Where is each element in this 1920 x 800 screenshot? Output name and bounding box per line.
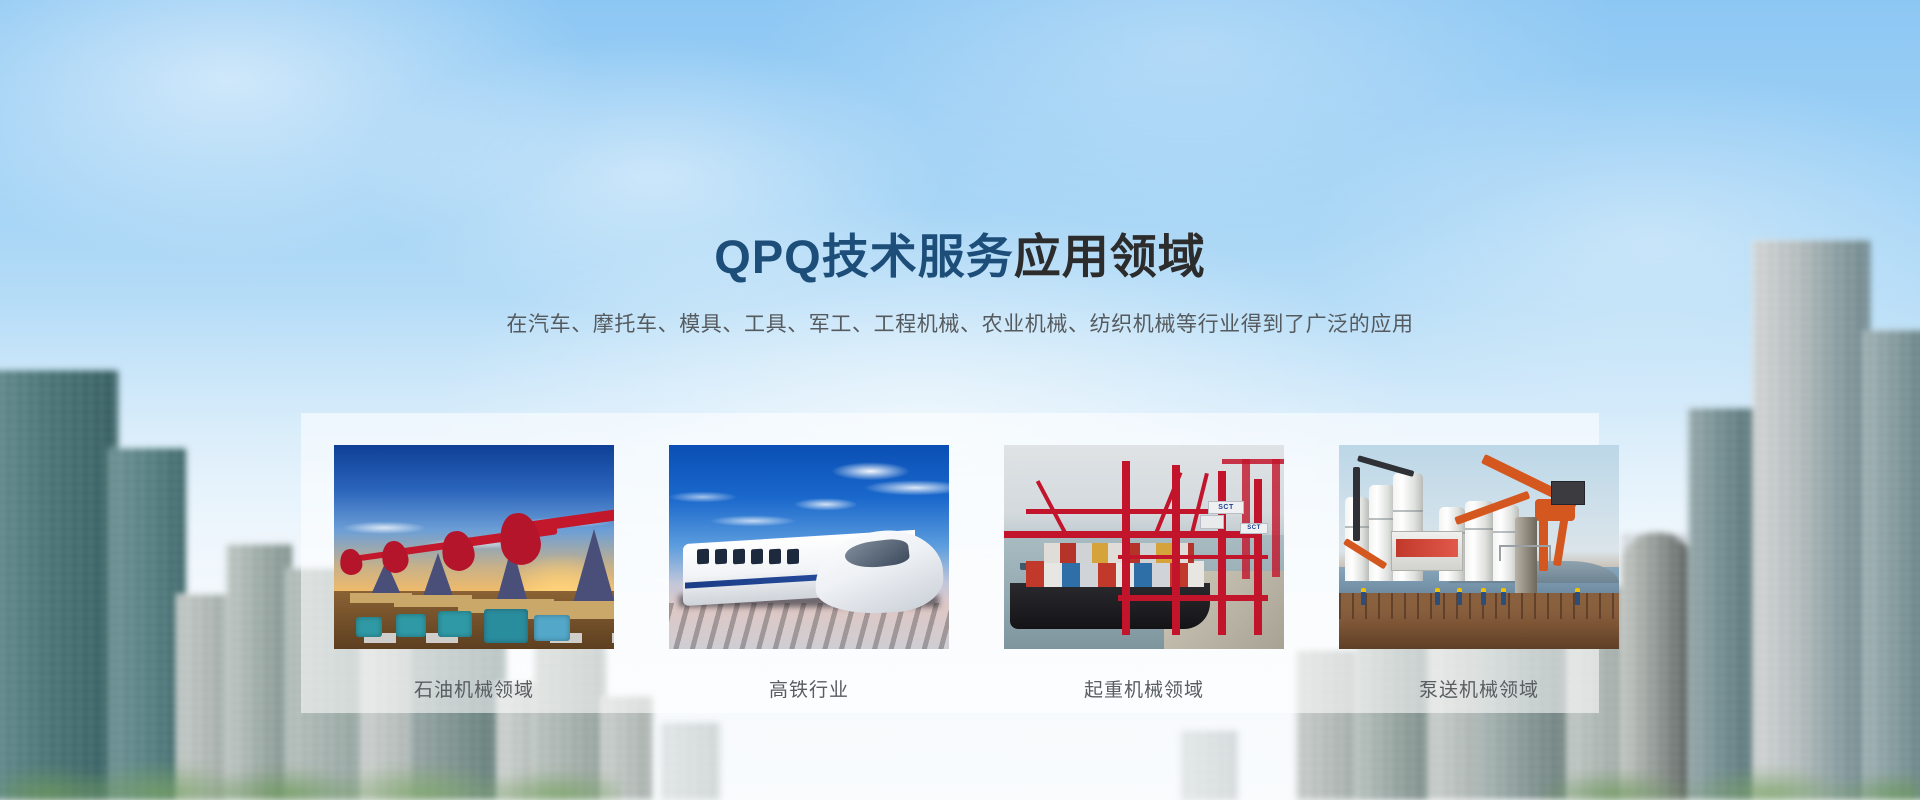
cloud-band [669, 451, 949, 543]
train-window [733, 549, 745, 565]
list-item[interactable]: 泵送机械领域 [1339, 445, 1619, 665]
oil-scene [334, 445, 614, 649]
pump-boom-arm [1353, 467, 1360, 541]
crane-cross-brace [1118, 595, 1268, 601]
card-caption: 石油机械领域 [334, 675, 614, 702]
oil-pumpjacks-photo[interactable] [334, 445, 614, 649]
worker-figure [1575, 592, 1580, 605]
list-item[interactable]: 石油机械领域 [334, 445, 614, 665]
pump-boom-arm [1357, 455, 1414, 477]
wellhead-valve-icon [396, 614, 426, 637]
train-window [787, 549, 799, 565]
page-title-rest: 应用领域 [1014, 230, 1206, 283]
train-scene [669, 445, 949, 649]
page-title: QPQ技术服务应用领域 [0, 230, 1920, 284]
site-office-cabin [1391, 531, 1463, 571]
hero-heading-block: QPQ技术服务应用领域 在汽车、摩托车、模具、工具、军工、工程机械、农业机械、纺… [0, 230, 1920, 338]
crane-diagonal [1036, 480, 1068, 535]
industry-cards-list: 石油机械领域 [334, 445, 1566, 665]
crane-leg [1242, 459, 1250, 579]
worker-figure [1361, 592, 1366, 605]
card-caption: 泵送机械领域 [1339, 675, 1619, 702]
foreground-trees-left [0, 730, 620, 800]
high-speed-train-photo[interactable] [669, 445, 949, 649]
worker-figure [1457, 592, 1462, 605]
card-caption: 高铁行业 [669, 675, 949, 702]
industry-cards-panel: 石油机械领域 [301, 413, 1599, 713]
skyline-building [1862, 330, 1920, 800]
concrete-pump-machinery-photo[interactable] [1339, 445, 1619, 649]
crane-leg [1122, 461, 1130, 635]
card-caption: 起重机械领域 [1004, 675, 1284, 702]
container-ship [1010, 583, 1210, 629]
worker-figure [1501, 592, 1506, 605]
crane-leg [1172, 465, 1180, 635]
train-window [715, 549, 727, 565]
train-window [769, 549, 781, 565]
wellhead-valve-icon [484, 609, 528, 643]
pump-platform-rail [1499, 545, 1551, 561]
crane-operator-cabin [1200, 515, 1224, 529]
worker-figure [1435, 592, 1440, 605]
wellhead-valve-icon [534, 615, 570, 641]
crane-leg [1218, 471, 1226, 635]
train-window [751, 549, 763, 565]
foreground-trees-right [1540, 744, 1920, 800]
train-window [697, 549, 709, 565]
worker-figure [1481, 592, 1486, 605]
pump-control-box [1551, 481, 1585, 505]
crane-leg [1272, 459, 1280, 577]
skyline-building [1180, 730, 1238, 800]
list-item[interactable]: SCT SCT 起重机械领域 [1004, 445, 1284, 665]
port-container-crane-photo[interactable]: SCT SCT [1004, 445, 1284, 649]
pump-scene [1339, 445, 1619, 649]
skyline-building [660, 722, 720, 800]
page-title-accent: QPQ技术服务 [714, 230, 1013, 283]
port-scene: SCT SCT [1004, 445, 1284, 649]
scf-logo-box: SCT [1240, 523, 1268, 534]
scf-logo-box: SCT [1208, 501, 1244, 514]
wellhead-valve-icon [356, 617, 382, 637]
list-item[interactable]: 高铁行业 [669, 445, 949, 665]
wellhead-valve-icon [438, 611, 472, 637]
skyline-building [1688, 408, 1758, 800]
page-subtitle: 在汽车、摩托车、模具、工具、军工、工程机械、农业机械、纺织机械等行业得到了广泛的… [0, 308, 1920, 338]
